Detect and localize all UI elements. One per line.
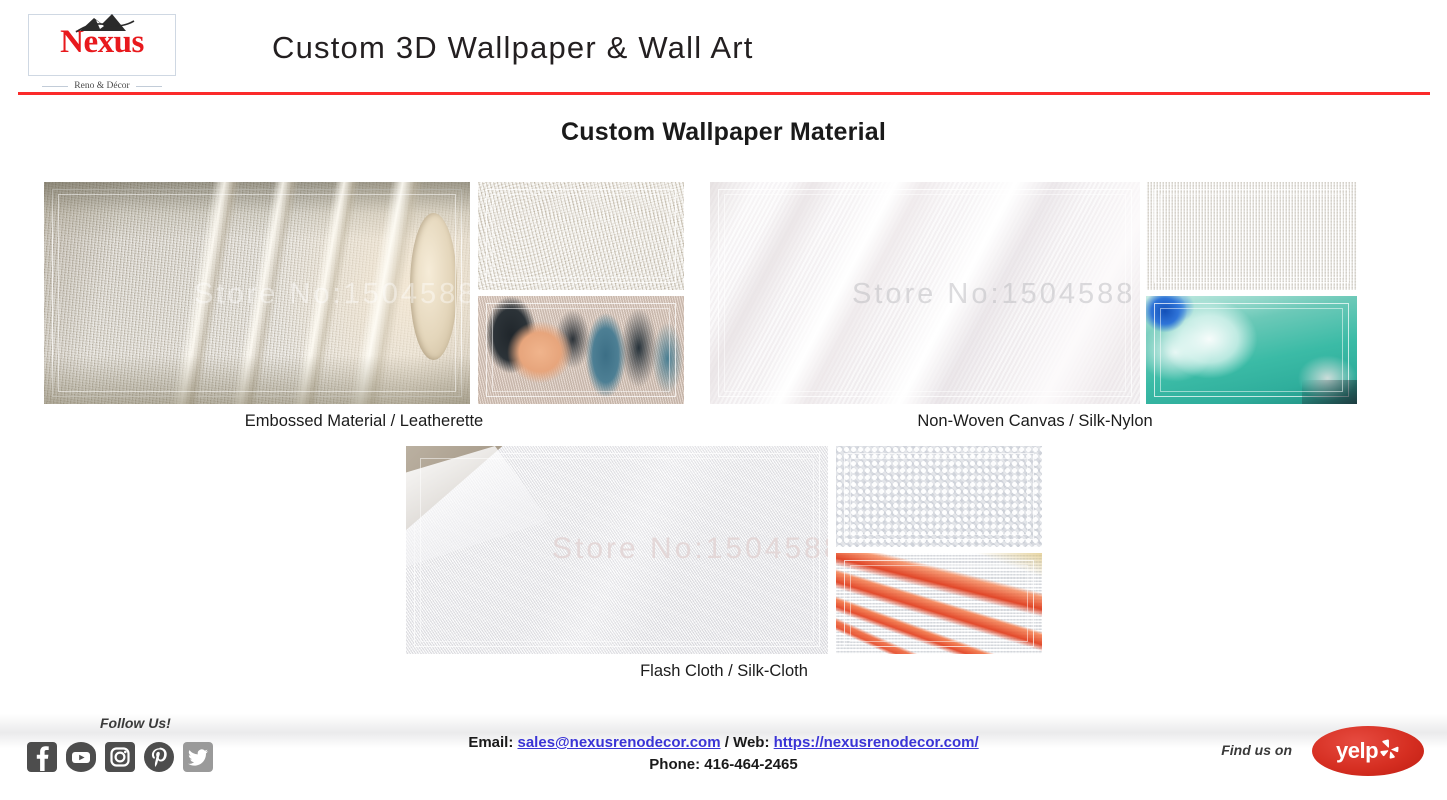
- email-label: Email:: [468, 734, 513, 751]
- find-us-on-label: Find us on: [1221, 742, 1292, 758]
- material-image-main[interactable]: Store No:1504588: [44, 182, 470, 404]
- material-caption: Flash Cloth / Silk-Cloth: [406, 662, 1042, 681]
- material-image-detail-1[interactable]: [836, 446, 1042, 547]
- brand-tagline-wrap: Reno & Décor: [29, 81, 175, 91]
- material-group-nonwoven: Store No:1504588 Non-Woven Canvas / Silk…: [710, 182, 1360, 432]
- photo-roll-core: [410, 213, 457, 360]
- store-watermark: Store No:1504588: [852, 278, 1135, 311]
- header-divider: [18, 92, 1430, 95]
- web-label: Web:: [733, 734, 769, 751]
- tagline-rule-left: [42, 86, 68, 87]
- brand-tagline: Reno & Décor: [74, 81, 129, 91]
- yelp-burst-icon: [1380, 738, 1400, 765]
- yelp-badge[interactable]: yelp: [1312, 726, 1424, 776]
- material-image-detail-1[interactable]: [478, 182, 684, 290]
- page-header: Nexus Reno & Décor Custom 3D Wallpaper &…: [0, 0, 1447, 94]
- follow-us-label: Follow Us!: [100, 715, 171, 731]
- material-image-detail-2[interactable]: [478, 296, 684, 404]
- photo-shade-bottom: [44, 355, 470, 404]
- page-footer: Follow Us!: [0, 702, 1447, 800]
- material-image-main[interactable]: Store No:1504588: [710, 182, 1140, 404]
- website-link[interactable]: https://nexusrenodecor.com/: [774, 734, 979, 751]
- material-image-detail-2[interactable]: [836, 553, 1042, 654]
- material-image-main[interactable]: Store No:1504588: [406, 446, 828, 654]
- material-image-detail-2[interactable]: [1146, 296, 1357, 404]
- email-link[interactable]: sales@nexusrenodecor.com: [518, 734, 721, 751]
- section-title: Custom Wallpaper Material: [0, 118, 1447, 147]
- mountain-roof-icon: [74, 11, 138, 33]
- material-image-detail-1[interactable]: [1146, 182, 1357, 290]
- yelp-wordmark: yelp: [1336, 738, 1378, 764]
- slide-page: Nexus Reno & Décor Custom 3D Wallpaper &…: [0, 0, 1447, 800]
- brand-logo[interactable]: Nexus Reno & Décor: [28, 14, 176, 76]
- material-group-embossed: Store No:1504588 Embossed Material / Lea…: [44, 182, 684, 432]
- material-caption: Embossed Material / Leatherette: [44, 412, 684, 431]
- page-title: Custom 3D Wallpaper & Wall Art: [272, 30, 754, 66]
- tagline-rule-right: [136, 86, 162, 87]
- store-watermark: Store No:1504588: [552, 532, 828, 566]
- photo-corner-shade: [1302, 380, 1357, 404]
- material-caption: Non-Woven Canvas / Silk-Nylon: [710, 412, 1360, 431]
- contact-separator: /: [725, 734, 729, 751]
- material-group-flashcloth: Store No:1504588 Flash Cloth / Silk-Clot…: [406, 446, 1042, 691]
